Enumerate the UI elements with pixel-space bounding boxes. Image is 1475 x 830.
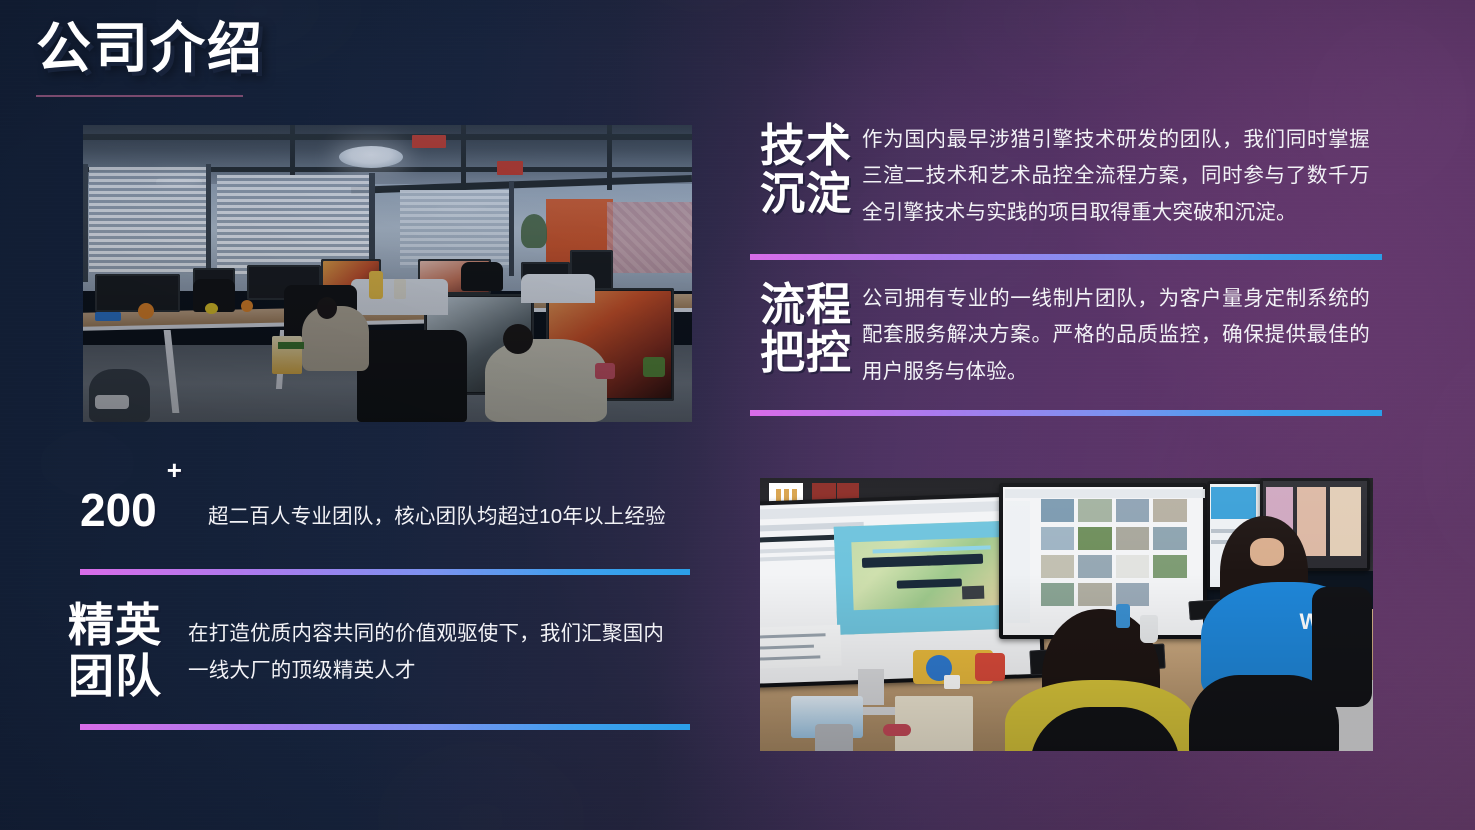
stat-number: 200	[80, 487, 157, 533]
stat-plus-sign: +	[167, 457, 182, 483]
team-key: 精英 团队	[68, 600, 188, 701]
feature-tech-key-line1: 技术	[760, 122, 862, 170]
team-description: 在打造优质内容共同的价值观驱使下，我们汇聚国内一线大厂的顶级精英人才	[188, 616, 678, 690]
designers-at-desk-photo: W	[760, 478, 1373, 751]
team-block: 精英 团队 在打造优质内容共同的价值观驱使下，我们汇聚国内一线大厂的顶级精英人才	[68, 600, 678, 701]
feature-process-key-line2: 把控	[760, 329, 862, 377]
stat-block: 200 + 超二百人专业团队，核心团队均超过10年以上经验	[80, 487, 666, 533]
feature-process-key-line1: 流程	[760, 281, 862, 329]
divider-feature-2	[750, 410, 1382, 416]
team-key-line1: 精英	[68, 600, 188, 651]
feature-process-key: 流程 把控	[760, 281, 862, 376]
stat-description: 超二百人专业团队，核心团队均超过10年以上经验	[208, 499, 666, 529]
feature-tech: 技术 沉淀 作为国内最早涉猎引擎技术研发的团队，我们同时掌握三渲二技术和艺术品控…	[760, 122, 1382, 231]
feature-tech-key: 技术 沉淀	[760, 122, 862, 217]
feature-process: 流程 把控 公司拥有专业的一线制片团队，为客户量身定制系统的配套服务解决方案。严…	[760, 281, 1382, 390]
divider-team	[80, 724, 690, 730]
divider-stat	[80, 569, 690, 575]
slide-root: 公司介绍	[0, 0, 1475, 830]
office-workspace-photo	[83, 125, 692, 422]
divider-feature-1	[750, 254, 1382, 260]
title-block: 公司介绍	[36, 18, 264, 97]
feature-tech-body: 作为国内最早涉猎引擎技术研发的团队，我们同时掌握三渲二技术和艺术品控全流程方案，…	[862, 122, 1370, 231]
title-underline	[36, 95, 243, 97]
team-key-line2: 团队	[68, 651, 188, 702]
page-title: 公司介绍	[36, 18, 264, 79]
feature-tech-key-line2: 沉淀	[760, 170, 862, 218]
feature-process-body: 公司拥有专业的一线制片团队，为客户量身定制系统的配套服务解决方案。严格的品质监控…	[862, 281, 1370, 390]
